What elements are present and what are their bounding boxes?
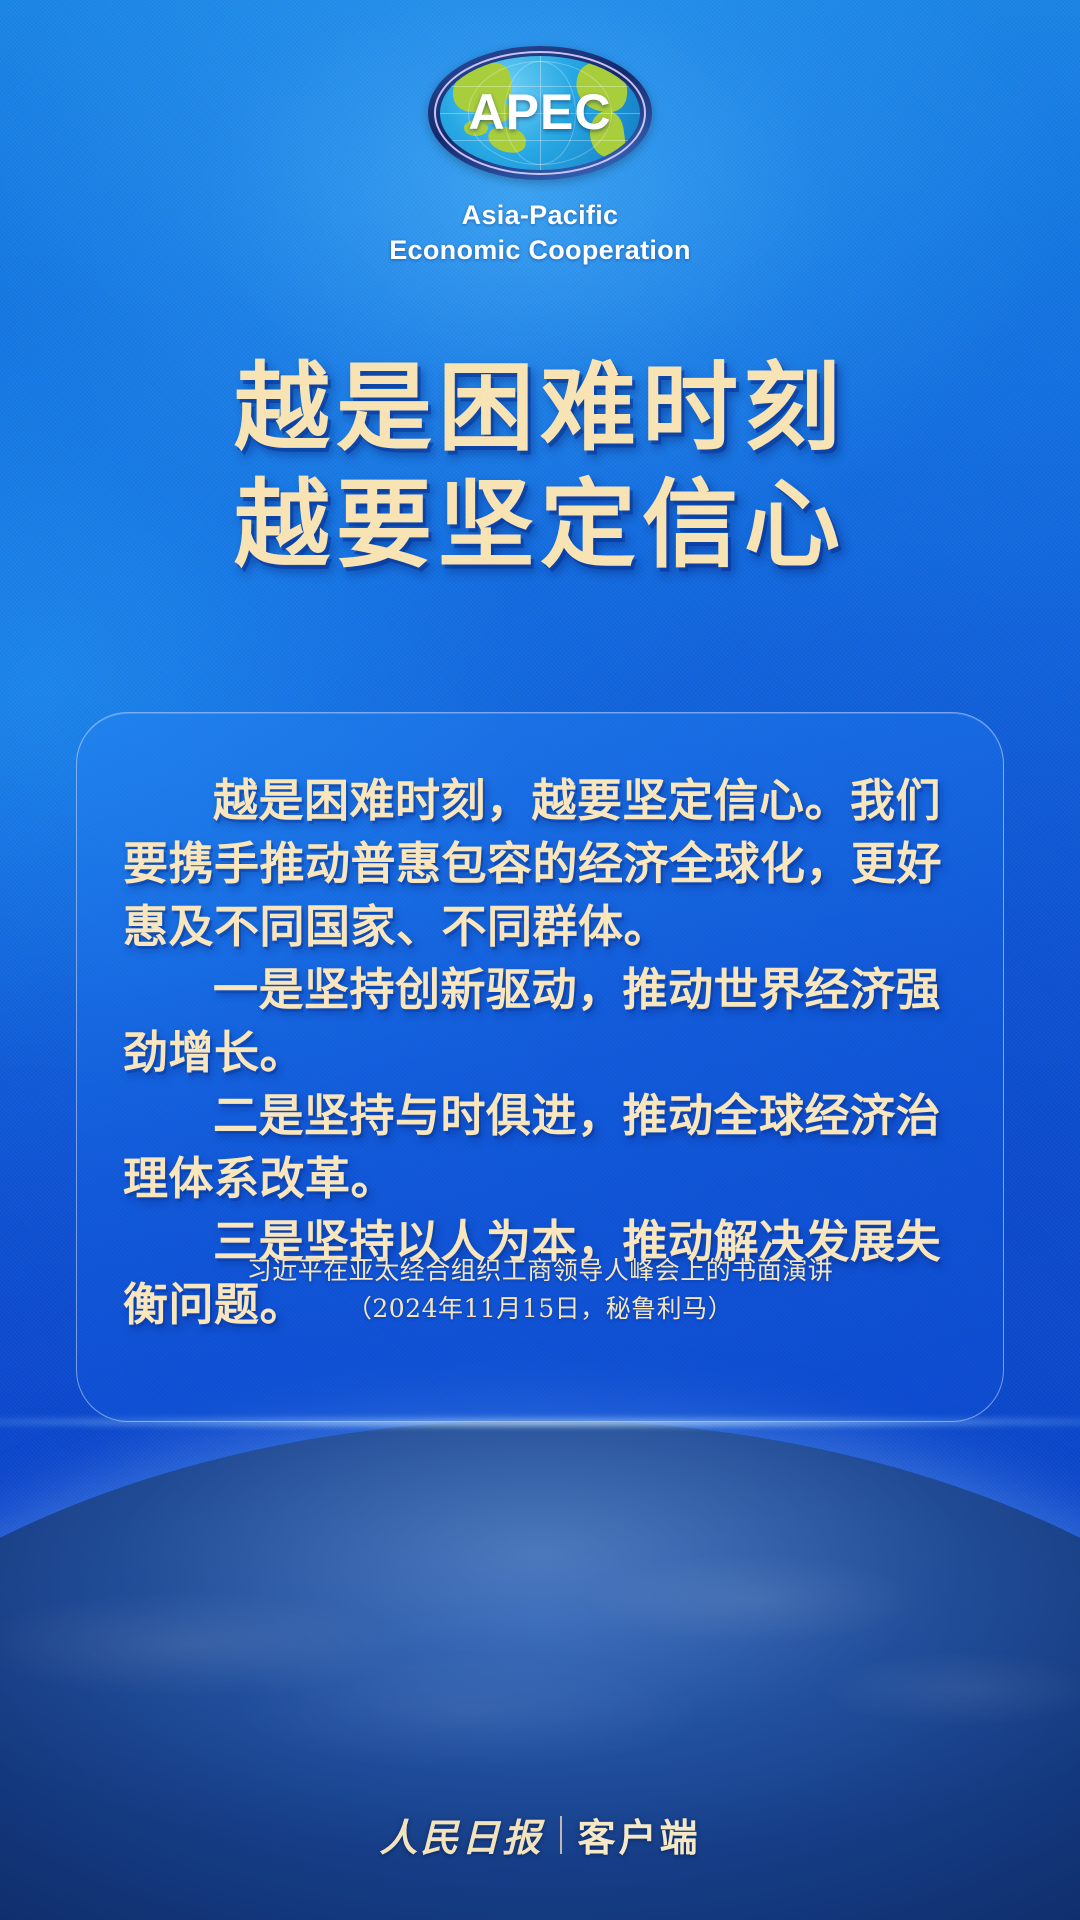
apec-acronym: APEC [428,83,652,141]
quote-paragraph: 二是坚持与时俱进，推动全球经济治理体系改革。 [123,1084,957,1210]
publisher-logo: 人民日报 [379,1807,543,1862]
apec-name-line-1: Asia-Pacific [0,198,1080,233]
headline-line-1: 越是困难时刻 [0,350,1080,467]
footer-brand: 人民日报 客户端 [0,1807,1080,1862]
app-name: 客户端 [578,1807,701,1862]
page-title: 越是困难时刻 越要坚定信心 [0,350,1080,584]
attribution-date-place: （2024年11月15日，秘鲁利马） [123,1290,957,1329]
quote-card: 越是困难时刻，越要坚定信心。我们要携手推动普惠包容的经济全球化，更好惠及不同国家… [76,712,1004,1422]
apec-name-line-2: Economic Cooperation [0,233,1080,268]
globe-icon: APEC [428,46,652,180]
quote-paragraph: 越是困难时刻，越要坚定信心。我们要携手推动普惠包容的经济全球化，更好惠及不同国家… [123,769,957,958]
headline-line-2: 越要坚定信心 [0,467,1080,584]
brand-divider [560,1816,562,1854]
quote-paragraph: 一是坚持创新驱动，推动世界经济强劲增长。 [123,958,957,1084]
poster-root: APEC Asia-Pacific Economic Cooperation 越… [0,0,1080,1920]
apec-logo: APEC Asia-Pacific Economic Cooperation [0,46,1080,267]
quote-attribution: 习近平在亚太经合组织工商领导人峰会上的书面演讲 （2024年11月15日，秘鲁利… [123,1252,957,1330]
attribution-source: 习近平在亚太经合组织工商领导人峰会上的书面演讲 [123,1252,957,1291]
